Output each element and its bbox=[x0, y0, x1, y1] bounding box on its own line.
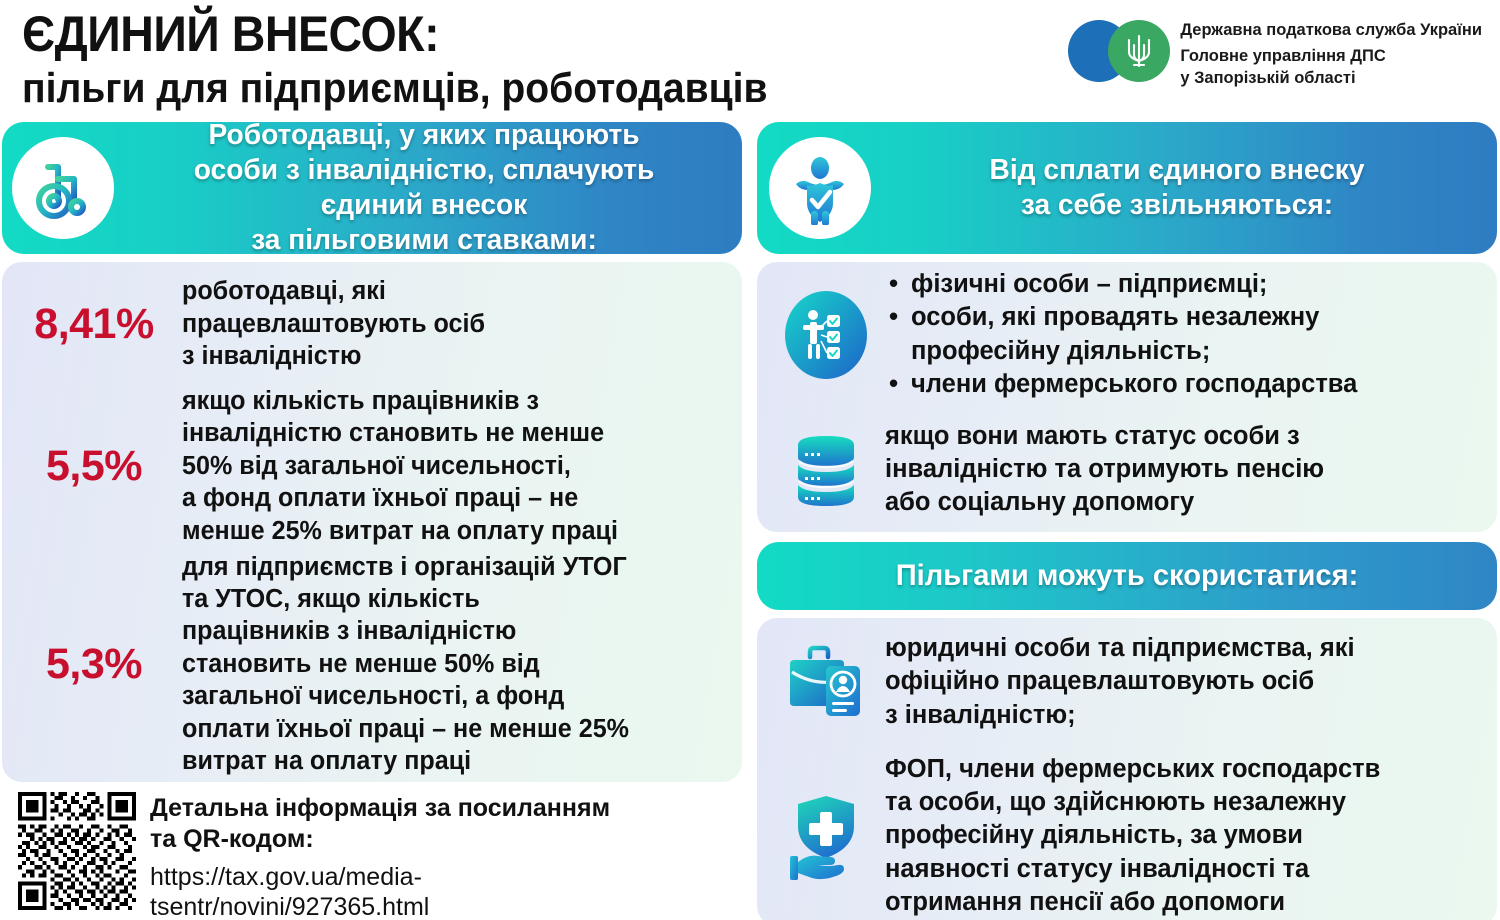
qr-code-icon[interactable] bbox=[18, 792, 136, 910]
rate-value: 8,41% bbox=[6, 303, 182, 346]
briefcase-id-icon bbox=[767, 640, 885, 724]
employers-banner: Роботодавці, у яких працюють особи з інв… bbox=[2, 122, 742, 254]
rate-row: 5,3% для підприємств і організацій УТОГ … bbox=[2, 546, 742, 782]
person-checklist-icon bbox=[767, 289, 885, 381]
list-item: особи, які провадять незалежну професійн… bbox=[885, 301, 1481, 367]
rate-description: для підприємств і організацій УТОГ та УТ… bbox=[182, 551, 720, 778]
title-line-1: ЄДИНИЙ ВНЕСОК: bbox=[22, 8, 915, 61]
title-line-2: пільги для підприємців, роботодавців bbox=[22, 65, 915, 110]
masthead: ЄДИНИЙ ВНЕСОК: пільги для підприємців, р… bbox=[0, 0, 1500, 116]
agency-logo-block: Державна податкова служба України Головн… bbox=[1068, 18, 1482, 89]
trident-icon bbox=[1124, 31, 1154, 71]
shield-hand-icon bbox=[767, 790, 885, 882]
list-item: фізичні особи – підприємці; bbox=[885, 268, 1481, 301]
rate-description: якщо кількість працівників з інвалідніст… bbox=[182, 385, 720, 547]
employers-banner-text: Роботодавці, у яких працюють особи з інв… bbox=[129, 122, 719, 254]
rates-panel: 8,41% роботодавці, які працевлаштовують … bbox=[2, 262, 742, 782]
exempt-bullet-list: фізичні особи – підприємці; особи, які п… bbox=[885, 268, 1481, 401]
page-title: ЄДИНИЙ ВНЕСОК: пільги для підприємців, р… bbox=[22, 8, 982, 110]
qr-texts: Детальна інформація за посиланням та QR-… bbox=[150, 792, 610, 920]
logo-green-circle-icon bbox=[1108, 20, 1170, 82]
right-column: Від сплати єдиного внеску за себе звільн… bbox=[757, 122, 1497, 920]
infographic-page: ЄДИНИЙ ВНЕСОК: пільги для підприємців, р… bbox=[0, 0, 1500, 920]
beneficiary-row: юридичні особи та підприємства, які офіц… bbox=[757, 618, 1497, 746]
exempt-condition-text: якщо вони мають статус особи з інвалідні… bbox=[885, 420, 1481, 519]
rate-row: 5,5% якщо кількість працівників з інвалі… bbox=[2, 386, 742, 546]
benefits-banner: Пільгами можуть скористатися: bbox=[757, 542, 1497, 610]
qr-section: Детальна інформація за посиланням та QR-… bbox=[2, 782, 742, 920]
exempt-bullets-row: фізичні особи – підприємці; особи, які п… bbox=[757, 262, 1497, 407]
agency-line-1: Державна податкова служба України bbox=[1180, 19, 1482, 41]
rate-description: роботодавці, які працевлаштовують осіб з… bbox=[182, 275, 720, 372]
agency-line-2: Головне управління ДПС bbox=[1180, 46, 1482, 67]
exempt-condition-row: якщо вони мають статус особи з інвалідні… bbox=[757, 407, 1497, 532]
beneficiaries-panel: юридичні особи та підприємства, які офіц… bbox=[757, 618, 1497, 920]
person-shield-icon bbox=[769, 137, 871, 239]
logo-marks bbox=[1068, 18, 1170, 84]
beneficiary-text: юридичні особи та підприємства, які офіц… bbox=[885, 632, 1481, 731]
left-column: Роботодавці, у яких працюють особи з інв… bbox=[2, 122, 742, 920]
exempt-banner-text: Від сплати єдиного внеску за себе звільн… bbox=[886, 153, 1468, 223]
benefits-banner-text: Пільгами можуть скористатися: bbox=[789, 558, 1464, 594]
list-item: члени фермерського господарства bbox=[885, 368, 1481, 401]
rate-value: 5,5% bbox=[6, 445, 182, 488]
rate-value: 5,3% bbox=[6, 643, 182, 686]
qr-url[interactable]: https://tax.gov.ua/media- tsentr/novini/… bbox=[150, 862, 610, 920]
rate-row: 8,41% роботодавці, які працевлаштовують … bbox=[2, 262, 742, 386]
exempt-panel: фізичні особи – підприємці; особи, які п… bbox=[757, 262, 1497, 532]
beneficiary-row: ФОП, члени фермерських господарств та ос… bbox=[757, 746, 1497, 920]
agency-line-3: у Запорізькій області bbox=[1180, 68, 1482, 89]
database-stack-icon bbox=[767, 431, 885, 509]
agency-name: Державна податкова служба України Головн… bbox=[1180, 18, 1482, 89]
beneficiary-text: ФОП, члени фермерських господарств та ос… bbox=[885, 753, 1481, 919]
wheelchair-icon bbox=[12, 137, 114, 239]
qr-heading: Детальна інформація за посиланням та QR-… bbox=[150, 793, 610, 854]
exempt-banner: Від сплати єдиного внеску за себе звільн… bbox=[757, 122, 1497, 254]
